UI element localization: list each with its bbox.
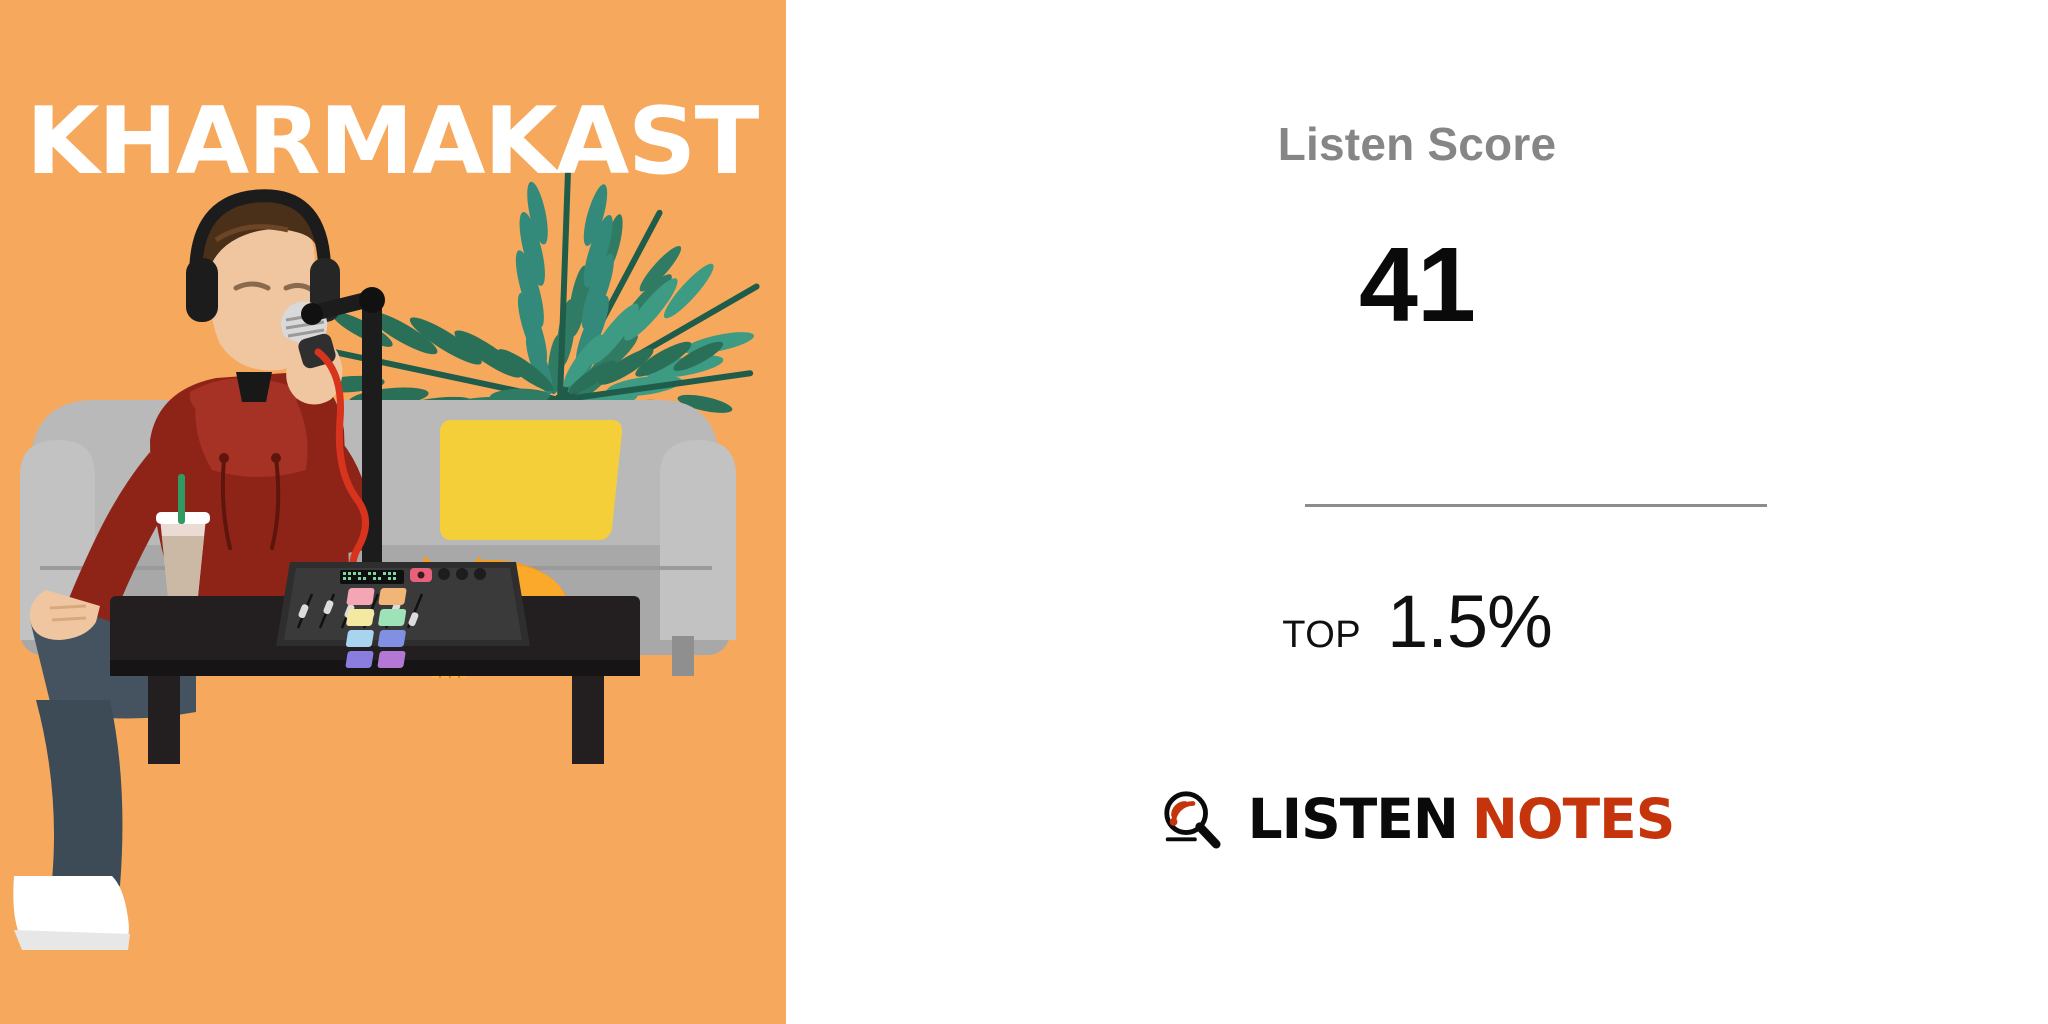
- yellow-cushion: [440, 420, 622, 540]
- brand-word-listen: LISTEN: [1248, 787, 1458, 851]
- rank-percentile-value: 1.5%: [1387, 585, 1552, 659]
- global-rank: TOP 1.5%: [786, 585, 2048, 659]
- listen-score-panel: Listen Score 41 TOP 1.5%: [786, 0, 2048, 1024]
- podcast-cover-title: KHARMAKAST: [26, 95, 781, 188]
- rank-prefix-label: TOP: [1282, 614, 1361, 657]
- listen-score-card: KHARMAKAST Listen Score 41 TOP 1.5%: [0, 0, 2048, 1024]
- listen-score-value: 41: [786, 232, 2048, 338]
- magnifier-rss-icon: [1160, 788, 1222, 850]
- score-divider: [1305, 504, 1767, 507]
- brand-wordmark: LISTENNOTES: [1248, 792, 1675, 847]
- listen-score-label: Listen Score: [786, 117, 2048, 171]
- brand-word-notes: NOTES: [1472, 787, 1675, 851]
- listen-notes-brand[interactable]: LISTENNOTES: [786, 788, 2048, 850]
- podcast-cover-art[interactable]: KHARMAKAST: [0, 0, 786, 1024]
